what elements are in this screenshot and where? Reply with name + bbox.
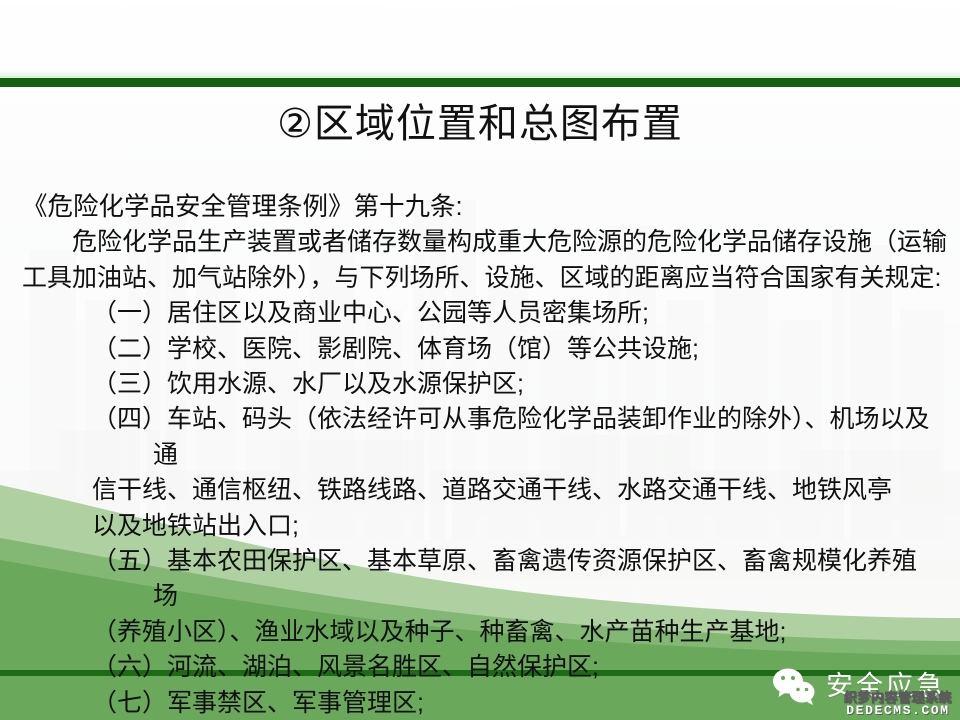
- list-item: （二）学校、医院、影剧院、体育场（馆）等公共设施;: [22, 332, 938, 367]
- list-item-text: 学校、医院、影剧院、体育场（馆）等公共设施;: [167, 335, 699, 363]
- wechat-icon: [771, 666, 817, 706]
- list-item: （四）车站、码头（依法经许可从事危险化学品装卸作业的除外）、机场以及通: [22, 402, 938, 473]
- dedecms-watermark: 织梦内容管理系统 DEDECMS.COM: [844, 691, 952, 718]
- slide-body: 《危险化学品安全管理条例》第十九条: 危险化学品生产装置或者储存数量构成重大危险…: [22, 190, 938, 720]
- list-item-marker: （三）: [92, 370, 167, 398]
- list-item-marker: （二）: [92, 335, 167, 363]
- list-item-continuation: （养殖小区）、渔业水域以及种子、种畜禽、水产苗种生产基地;: [22, 615, 938, 650]
- top-green-rule: [0, 78, 960, 87]
- list-item-marker: （七）: [92, 689, 167, 717]
- top-rule-glow: [0, 70, 960, 78]
- list-item-continuation: 以及地铁站出入口;: [22, 509, 938, 544]
- list-item: （一）居住区以及商业中心、公园等人员密集场所;: [22, 296, 938, 331]
- list-item-text: 基本农田保护区、基本草原、畜禽遗传资源保护区、畜禽规模化养殖场: [153, 547, 917, 610]
- list-item: （五）基本农田保护区、基本草原、畜禽遗传资源保护区、畜禽规模化养殖场: [22, 544, 938, 615]
- list-item: （三）饮用水源、水厂以及水源保护区;: [22, 367, 938, 402]
- slide-title: ②区域位置和总图布置: [0, 98, 960, 150]
- list-item-marker: （四）: [92, 405, 167, 433]
- list-item-continuation: 信干线、通信枢纽、铁路线路、道路交通干线、水路交通干线、地铁风亭: [22, 473, 938, 508]
- list-item-text: 饮用水源、水厂以及水源保护区;: [167, 370, 524, 398]
- presentation-slide: ②区域位置和总图布置 《危险化学品安全管理条例》第十九条: 危险化学品生产装置或…: [0, 0, 960, 720]
- body-intro-line-2: 工具加油站、加气站除外），与下列场所、设施、区域的距离应当符合国家有关规定:: [22, 261, 938, 296]
- list-item-text: 居住区以及商业中心、公园等人员密集场所;: [167, 299, 649, 327]
- list-item-text: 军事禁区、军事管理区;: [167, 689, 424, 717]
- list-item-marker: （一）: [92, 299, 167, 327]
- list-item-text: 车站、码头（依法经许可从事危险化学品装卸作业的除外）、机场以及通: [153, 405, 930, 468]
- list-item-marker: （五）: [92, 547, 167, 575]
- watermark-en-text: DEDECMS.COM: [844, 704, 952, 718]
- body-intro-line-1: 危险化学品生产装置或者储存数量构成重大危险源的危险化学品储存设施（运输: [22, 225, 938, 260]
- list-item-text: 河流、湖泊、风景名胜区、自然保护区;: [167, 653, 599, 681]
- watermark-cn-text: 织梦内容管理系统: [844, 691, 952, 705]
- list-item-marker: （六）: [92, 653, 167, 681]
- body-heading: 《危险化学品安全管理条例》第十九条:: [22, 190, 938, 225]
